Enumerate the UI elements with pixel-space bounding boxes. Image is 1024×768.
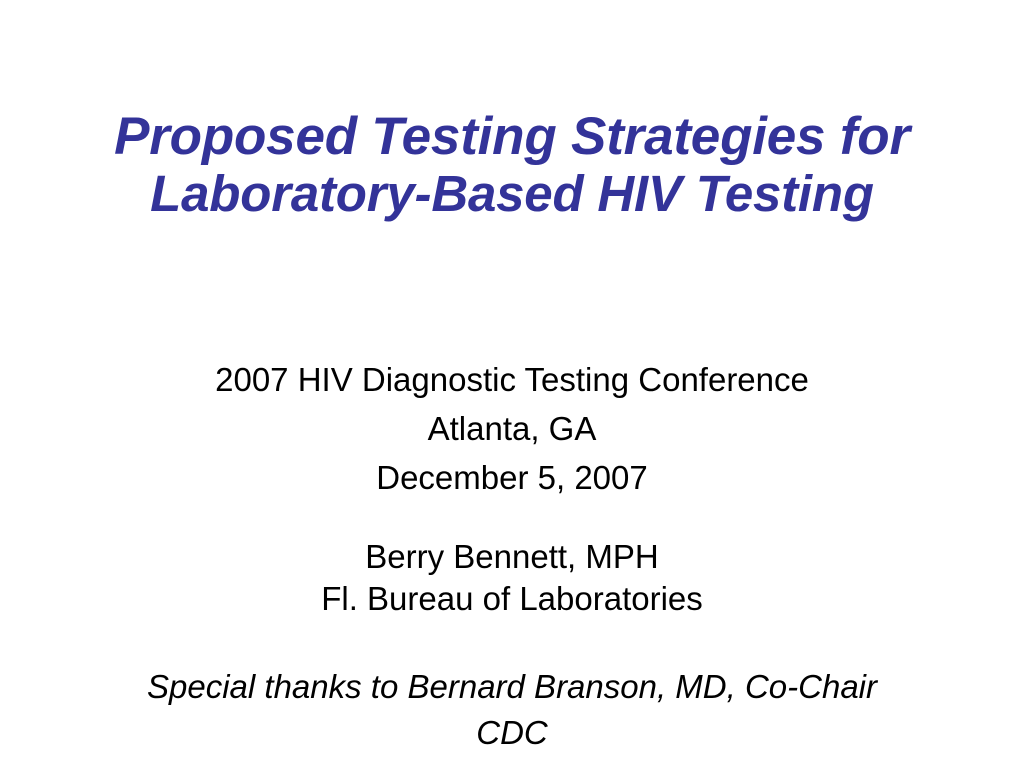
presenter-name: Berry Bennett, MPH [0, 536, 1024, 578]
acknowledgement-line-1: Special thanks to Bernard Branson, MD, C… [0, 664, 1024, 710]
presenter-info-block: Berry Bennett, MPH Fl. Bureau of Laborat… [0, 536, 1024, 620]
slide-canvas: Proposed Testing Strategies for Laborato… [0, 0, 1024, 768]
conference-info-block: 2007 HIV Diagnostic Testing Conference A… [0, 355, 1024, 502]
acknowledgement-line-2: CDC [0, 710, 1024, 756]
presenter-affiliation: Fl. Bureau of Laboratories [0, 578, 1024, 620]
slide-title: Proposed Testing Strategies for Laborato… [0, 108, 1024, 222]
acknowledgement-block: Special thanks to Bernard Branson, MD, C… [0, 664, 1024, 756]
conference-location: Atlanta, GA [0, 404, 1024, 453]
title-line-2: Laboratory-Based HIV Testing [0, 165, 1024, 222]
conference-date: December 5, 2007 [0, 453, 1024, 502]
title-line-1: Proposed Testing Strategies for [0, 108, 1024, 165]
conference-name: 2007 HIV Diagnostic Testing Conference [0, 355, 1024, 404]
